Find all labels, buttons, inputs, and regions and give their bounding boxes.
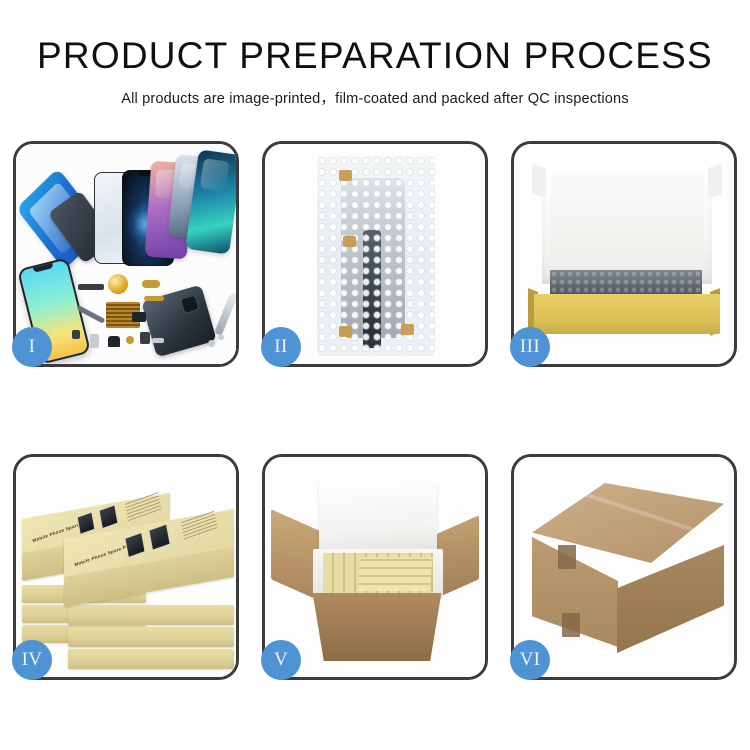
process-step-panel-5: V [262, 454, 488, 680]
box-stack-icon: Mobile Phone Spare Parts Mobile Phone Sp… [22, 477, 234, 671]
carton-front-icon [307, 593, 447, 661]
step-badge-6: VI [510, 640, 550, 680]
step-badge-5: V [261, 640, 301, 680]
step-2-image [265, 144, 485, 364]
process-step-panel-3: III [511, 141, 737, 367]
process-step-panel-1: I [13, 141, 239, 367]
step-badge-3: III [510, 327, 550, 367]
process-step-panel-4: Mobile Phone Spare Parts Mobile Phone Sp… [13, 454, 239, 680]
carton-right-face-icon [617, 545, 724, 653]
step-badge-2: II [261, 327, 301, 367]
step-4-image: Mobile Phone Spare Parts Mobile Phone Sp… [16, 457, 236, 677]
yellow-box-front-icon [534, 294, 720, 334]
step-3-image [514, 144, 734, 364]
styrofoam-lid-icon [319, 481, 437, 553]
inner-boxes-secondary-icon [357, 557, 433, 591]
carton-tape-lower-icon [562, 613, 580, 637]
page-title: PRODUCT PREPARATION PROCESS [0, 36, 750, 77]
bubble-wrap-bag-icon [317, 156, 435, 356]
product-preparation-page: PRODUCT PREPARATION PROCESS All products… [0, 0, 750, 750]
wireless-coil-icon [108, 274, 128, 294]
step-badge-1: I [12, 327, 52, 367]
foam-sheet-icon [550, 174, 704, 270]
step-6-image [514, 457, 734, 677]
step-1-image [16, 144, 236, 364]
carton-tape-upper-icon [558, 545, 576, 569]
process-step-grid: I II [13, 141, 737, 681]
step-badge-4: IV [12, 640, 52, 680]
page-subtitle: All products are image-printed，film-coat… [0, 87, 750, 108]
page-header: PRODUCT PREPARATION PROCESS All products… [0, 36, 750, 108]
process-step-panel-6: VI [511, 454, 737, 680]
process-step-panel-2: II [262, 141, 488, 367]
step-5-image [265, 457, 485, 677]
